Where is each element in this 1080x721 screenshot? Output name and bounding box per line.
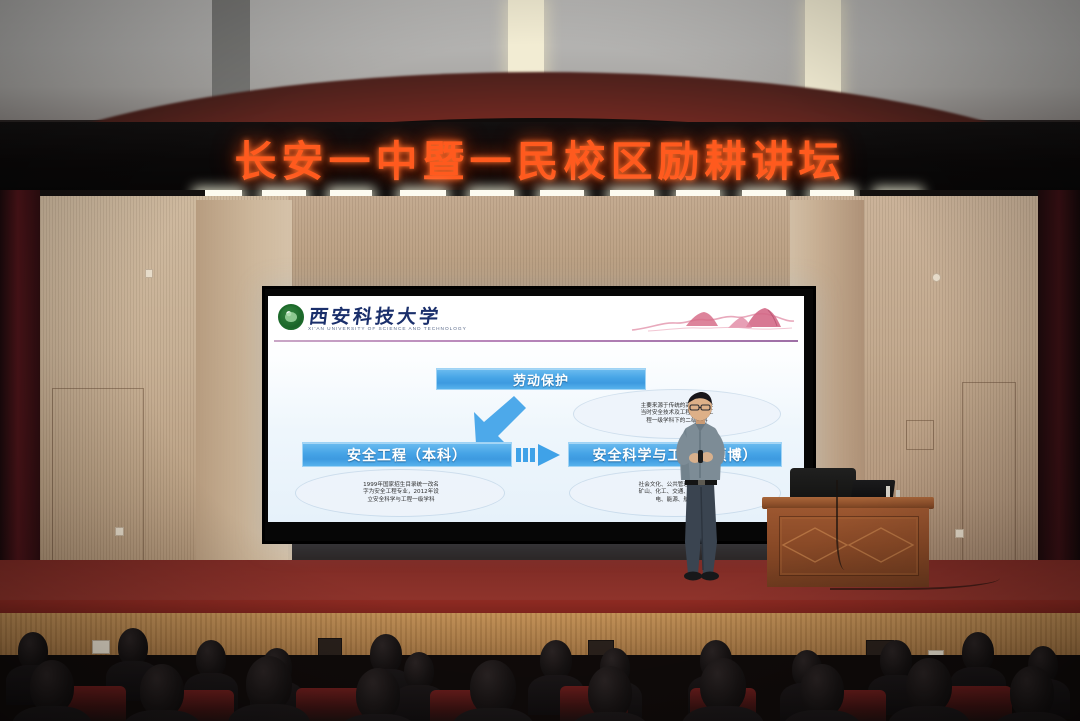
audience-head (962, 632, 994, 672)
audience-head (30, 660, 74, 713)
audience-head (800, 664, 844, 717)
podium-cable (836, 480, 858, 570)
audience-head (140, 664, 184, 717)
speaker-person (668, 392, 734, 582)
hall-light-switch (92, 640, 110, 654)
audience-head (356, 668, 400, 721)
audience-head (1010, 666, 1054, 719)
led-banner: 长安一中暨一民校区励耕讲坛 (0, 122, 1080, 194)
callout-lower-left: 1999年国家招生目录统一改名 字为安全工程专业，2012年设 立安全科学与工程… (296, 472, 506, 514)
audience-head (700, 658, 746, 713)
wall-door-right (962, 382, 1016, 588)
wall-plate-right (932, 273, 941, 282)
audience-head (246, 656, 292, 711)
auditorium-photo: 长安一中暨一民校区励耕讲坛 西安科技大学 XI'AN UNIVERSITY OF… (0, 0, 1080, 721)
university-name-en: XI'AN UNIVERSITY OF SCIENCE AND TECHNOLO… (308, 326, 467, 332)
slide-box-labor-protection: 劳动保护 (436, 368, 646, 390)
arrow-down-icon (468, 394, 530, 446)
wall-hatch-right (906, 420, 934, 450)
curtain-right (1038, 190, 1080, 590)
led-banner-text: 长安一中暨一民校区励耕讲坛 (0, 128, 1080, 189)
wall-plate-left (145, 269, 153, 278)
slide-box-safety-engineering: 安全工程（本科） (302, 442, 512, 467)
wall-door-left (52, 388, 144, 588)
university-seal-icon (278, 304, 304, 330)
audience-head (196, 640, 226, 678)
arrow-right-icon (516, 444, 564, 466)
audience-head (404, 652, 434, 690)
curtain-left (0, 190, 40, 590)
audience-head (588, 666, 632, 719)
audience-head (118, 628, 148, 666)
wall-plate-left-low (115, 527, 124, 536)
audience-head (470, 660, 516, 715)
audience-head (906, 658, 952, 713)
university-name-cn: 西安科技大学 (308, 308, 442, 327)
audience-head (540, 640, 572, 680)
wall-plate-right-low (955, 529, 964, 538)
mountain-decoration-icon (628, 304, 798, 338)
slide-header-rule (274, 340, 798, 342)
